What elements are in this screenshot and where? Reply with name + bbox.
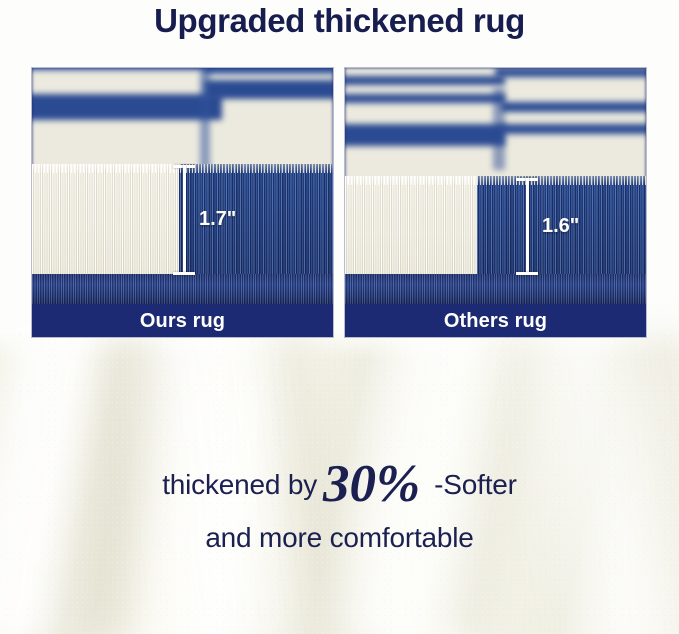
rug-stripe (345, 124, 505, 146)
measurement-value-others: 1.6" (542, 215, 579, 238)
measurement-others: 1.6" (516, 178, 606, 275)
rug-fiber-tips (32, 164, 179, 173)
rug-stripe (32, 94, 222, 120)
rug-background-pattern (32, 68, 333, 168)
rug-stripe (495, 68, 646, 77)
page-title: Upgraded thickened rug (0, 2, 679, 40)
rug-pile-cream-section (345, 176, 477, 279)
caption-line-1: thickened by30%-Softer (0, 464, 679, 505)
measure-cap-bottom-icon (516, 272, 538, 275)
measurement-ours: 1.7" (173, 165, 263, 275)
rug-background-pattern (345, 68, 646, 180)
caption-prefix: thickened by (162, 469, 317, 500)
product-feature-graphic: Upgraded thickened rug (0, 0, 679, 634)
rug-binding-strip (32, 274, 333, 304)
measure-shaft-icon (183, 165, 186, 275)
panel-label-ours: Ours rug (32, 304, 333, 338)
measure-cap-bottom-icon (173, 272, 195, 275)
panel-label-others: Others rug (345, 304, 646, 338)
panel-label-ours-text: Ours rug (140, 310, 225, 333)
rug-fiber-texture (32, 164, 179, 279)
comparison-panel-ours: 1.7" Ours rug (31, 67, 334, 338)
rug-binding-strip (345, 274, 646, 304)
measurement-value-ours: 1.7" (199, 208, 236, 231)
rug-stripe (501, 102, 646, 112)
panel-label-others-text: Others rug (444, 310, 547, 333)
rug-fiber-tips (345, 176, 477, 185)
rug-pile-cream-section (32, 164, 179, 279)
rug-stripe (200, 68, 210, 168)
rug-stripe (493, 88, 505, 170)
rug-stripe (32, 68, 212, 70)
measure-shaft-icon (526, 178, 529, 275)
rug-stripe (501, 124, 646, 134)
rug-stripe (204, 80, 333, 99)
rug-stripe (345, 94, 505, 103)
caption-suffix: -Softer (434, 469, 517, 500)
rug-stripe (345, 76, 505, 85)
comparison-panel-others: 1.6" Others rug (344, 67, 647, 338)
rug-stripe (204, 68, 333, 74)
caption-line-2: and more comfortable (0, 518, 679, 558)
rug-fiber-texture (345, 176, 477, 279)
caption-percent-value: 30% (323, 455, 420, 513)
